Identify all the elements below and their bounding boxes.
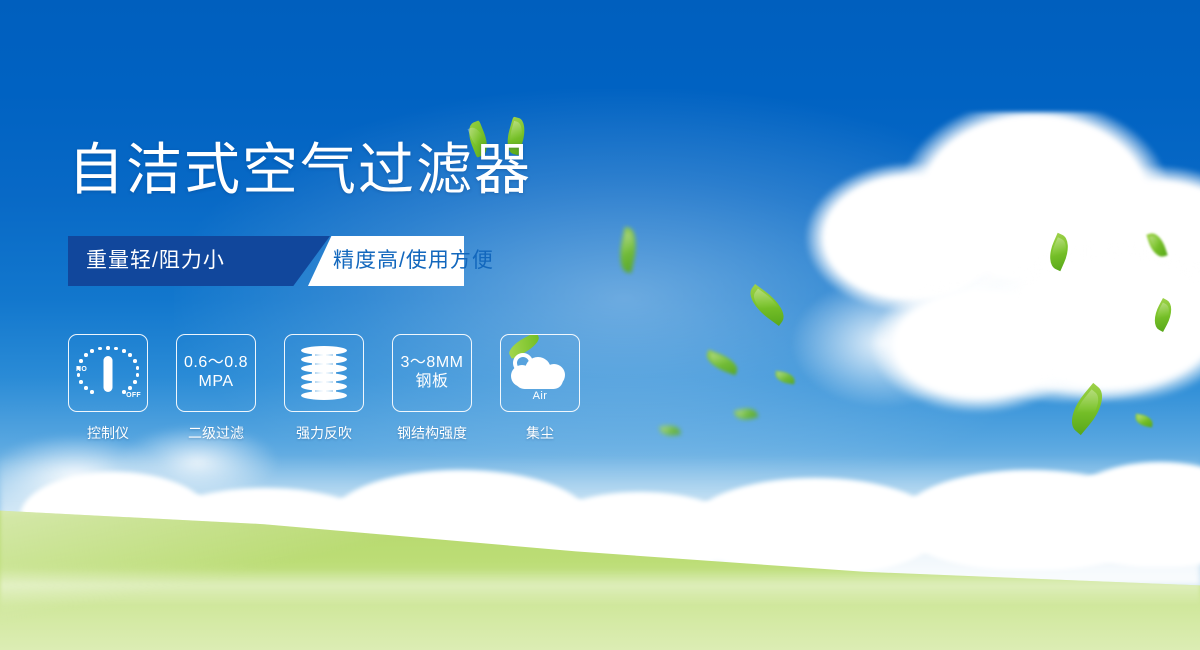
tagline-bar: 重量轻/阻力小 精度高/使用方便 bbox=[68, 236, 464, 286]
feature-label-control-gauge: 控制仪 bbox=[87, 423, 129, 443]
pressure-icon-text: 0.6〜0.8 MPA bbox=[184, 354, 248, 392]
tagline-right-text: 精度高/使用方便 bbox=[333, 236, 494, 286]
page-title: 自洁式空气过滤器 bbox=[68, 142, 532, 198]
gauge-needle bbox=[104, 356, 113, 392]
cloud-base bbox=[515, 370, 563, 389]
feature-label-dust-collection: 集尘 bbox=[526, 423, 554, 443]
feature-label-backblow: 强力反吹 bbox=[296, 423, 352, 443]
pressure-unit: MPA bbox=[184, 373, 248, 392]
steel-plate-icon: 3〜8MM 钢板 bbox=[392, 334, 472, 412]
feature-item-steel-plate[interactable]: 3〜8MM 钢板 钢结构强度 bbox=[392, 334, 472, 443]
feature-item-pressure[interactable]: 0.6〜0.8 MPA 二级过滤 bbox=[176, 334, 256, 443]
air-cloud-graphic: Air bbox=[509, 347, 571, 399]
steel-material: 钢板 bbox=[401, 373, 464, 392]
pressure-icon: 0.6〜0.8 MPA bbox=[176, 334, 256, 412]
gauge-dial: NO OFF bbox=[77, 344, 139, 402]
feature-item-control-gauge[interactable]: NO OFF 控制仪 bbox=[68, 334, 148, 443]
gauge-label-off: OFF bbox=[126, 392, 141, 399]
air-label: Air bbox=[509, 390, 571, 402]
gauge-label-no: NO bbox=[76, 366, 87, 373]
steel-plate-icon-text: 3〜8MM 钢板 bbox=[401, 354, 464, 392]
tagline-left-text: 重量轻/阻力小 bbox=[86, 236, 225, 286]
feature-item-backblow[interactable]: 强力反吹 bbox=[284, 334, 364, 443]
gauge-icon: NO OFF bbox=[68, 334, 148, 412]
coil-filter-icon bbox=[284, 334, 364, 412]
feature-label-pressure: 二级过滤 bbox=[188, 423, 244, 443]
feature-label-steel-plate: 钢结构强度 bbox=[397, 423, 467, 443]
coil-stack bbox=[301, 346, 347, 400]
pressure-value: 0.6〜0.8 bbox=[184, 354, 248, 371]
steel-thickness: 3〜8MM bbox=[401, 354, 464, 371]
feature-item-dust-collection[interactable]: Air 集尘 bbox=[500, 334, 580, 443]
air-cloud-icon: Air bbox=[500, 334, 580, 412]
feature-list: NO OFF 控制仪 0.6〜0.8 MPA 二级过滤 bbox=[68, 334, 580, 443]
hero-banner: 自洁式空气过滤器 重量轻/阻力小 精度高/使用方便 bbox=[0, 0, 1200, 650]
